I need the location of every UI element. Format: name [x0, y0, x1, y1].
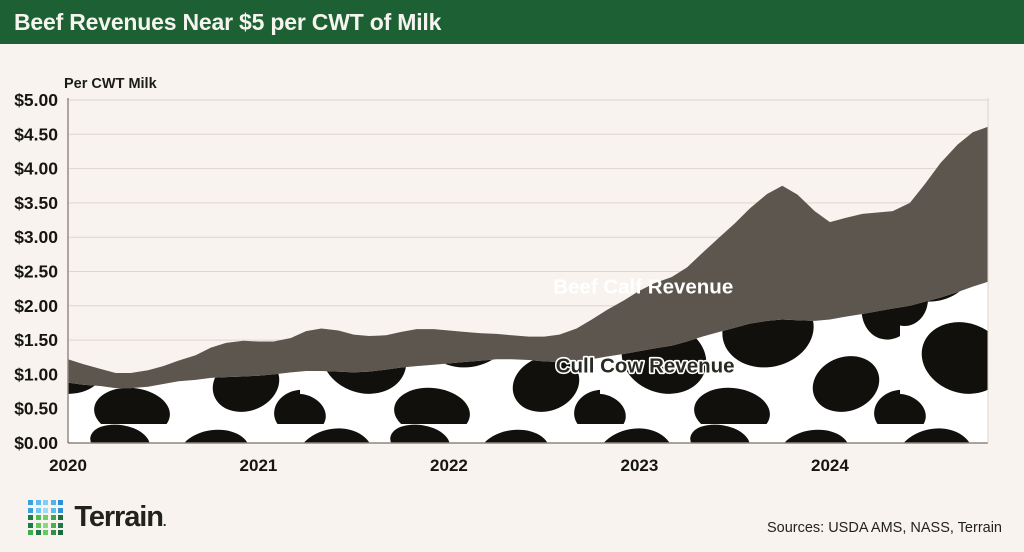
logo-cell	[36, 508, 41, 513]
logo-cell	[58, 500, 63, 505]
logo-cell	[28, 515, 33, 520]
y-tick-label: $2.50	[14, 262, 58, 282]
x-tick-label: 2020	[49, 456, 87, 475]
logo-cell	[28, 500, 33, 505]
x-tick-label: 2024	[811, 456, 849, 475]
y-tick-label: $0.50	[14, 399, 58, 419]
y-tick-label: $5.00	[14, 90, 58, 110]
x-tick-label: 2022	[430, 456, 468, 475]
logo-cell	[51, 515, 56, 520]
logo-word-text: Terrain	[74, 501, 162, 533]
logo-cell	[58, 515, 63, 520]
y-tick-label: $2.00	[14, 296, 58, 316]
y-tick-label: $4.00	[14, 159, 58, 179]
chart-container: Per CWT Milk	[0, 44, 1024, 484]
logo-cell	[36, 530, 41, 535]
y-tick-label: $1.50	[14, 330, 58, 350]
logo-grid-icon	[28, 500, 63, 535]
area-series-group	[68, 127, 988, 443]
area-chart: $0.00$0.50$1.00$1.50$2.00$2.50$3.00$3.50…	[0, 44, 1024, 484]
y-tick-label: $4.50	[14, 124, 58, 144]
logo-cell	[43, 508, 48, 513]
logo-cell	[36, 515, 41, 520]
y-tick-label: $3.00	[14, 227, 58, 247]
logo-cell	[43, 530, 48, 535]
logo-cell	[28, 530, 33, 535]
logo-cell	[43, 515, 48, 520]
x-tick-label: 2023	[621, 456, 659, 475]
logo-cell	[51, 500, 56, 505]
title-bar: Beef Revenues Near $5 per CWT of Milk	[0, 0, 1024, 44]
page-root: Beef Revenues Near $5 per CWT of Milk Pe…	[0, 0, 1024, 552]
logo-cell	[51, 530, 56, 535]
y-tick-label: $3.50	[14, 193, 58, 213]
logo-cell	[28, 508, 33, 513]
logo-wordmark: Terrain.	[74, 503, 165, 532]
logo-cell	[36, 500, 41, 505]
series-label-cull-cow-revenue: Cull Cow Revenue	[556, 354, 735, 377]
footer: Terrain. Sources: USDA AMS, NASS, Terrai…	[0, 484, 1024, 552]
logo-cell	[43, 523, 48, 528]
series-label-beef-calf-revenue: Beef Calf Revenue	[553, 275, 733, 298]
logo-cell	[58, 530, 63, 535]
terrain-logo: Terrain.	[28, 500, 165, 535]
y-axis-tick-labels: $0.00$0.50$1.00$1.50$2.00$2.50$3.00$3.50…	[14, 90, 58, 453]
sources-note: Sources: USDA AMS, NASS, Terrain	[767, 520, 1002, 536]
logo-cell	[43, 500, 48, 505]
logo-cell	[51, 523, 56, 528]
logo-trademark: .	[163, 514, 166, 529]
logo-cell	[58, 523, 63, 528]
logo-cell	[58, 508, 63, 513]
y-tick-label: $0.00	[14, 433, 58, 453]
page-title: Beef Revenues Near $5 per CWT of Milk	[14, 9, 441, 36]
logo-cell	[51, 508, 56, 513]
logo-cell	[28, 523, 33, 528]
x-tick-label: 2021	[240, 456, 278, 475]
y-tick-label: $1.00	[14, 364, 58, 384]
logo-cell	[36, 523, 41, 528]
x-axis-tick-labels: 20202021202220232024	[49, 456, 849, 475]
